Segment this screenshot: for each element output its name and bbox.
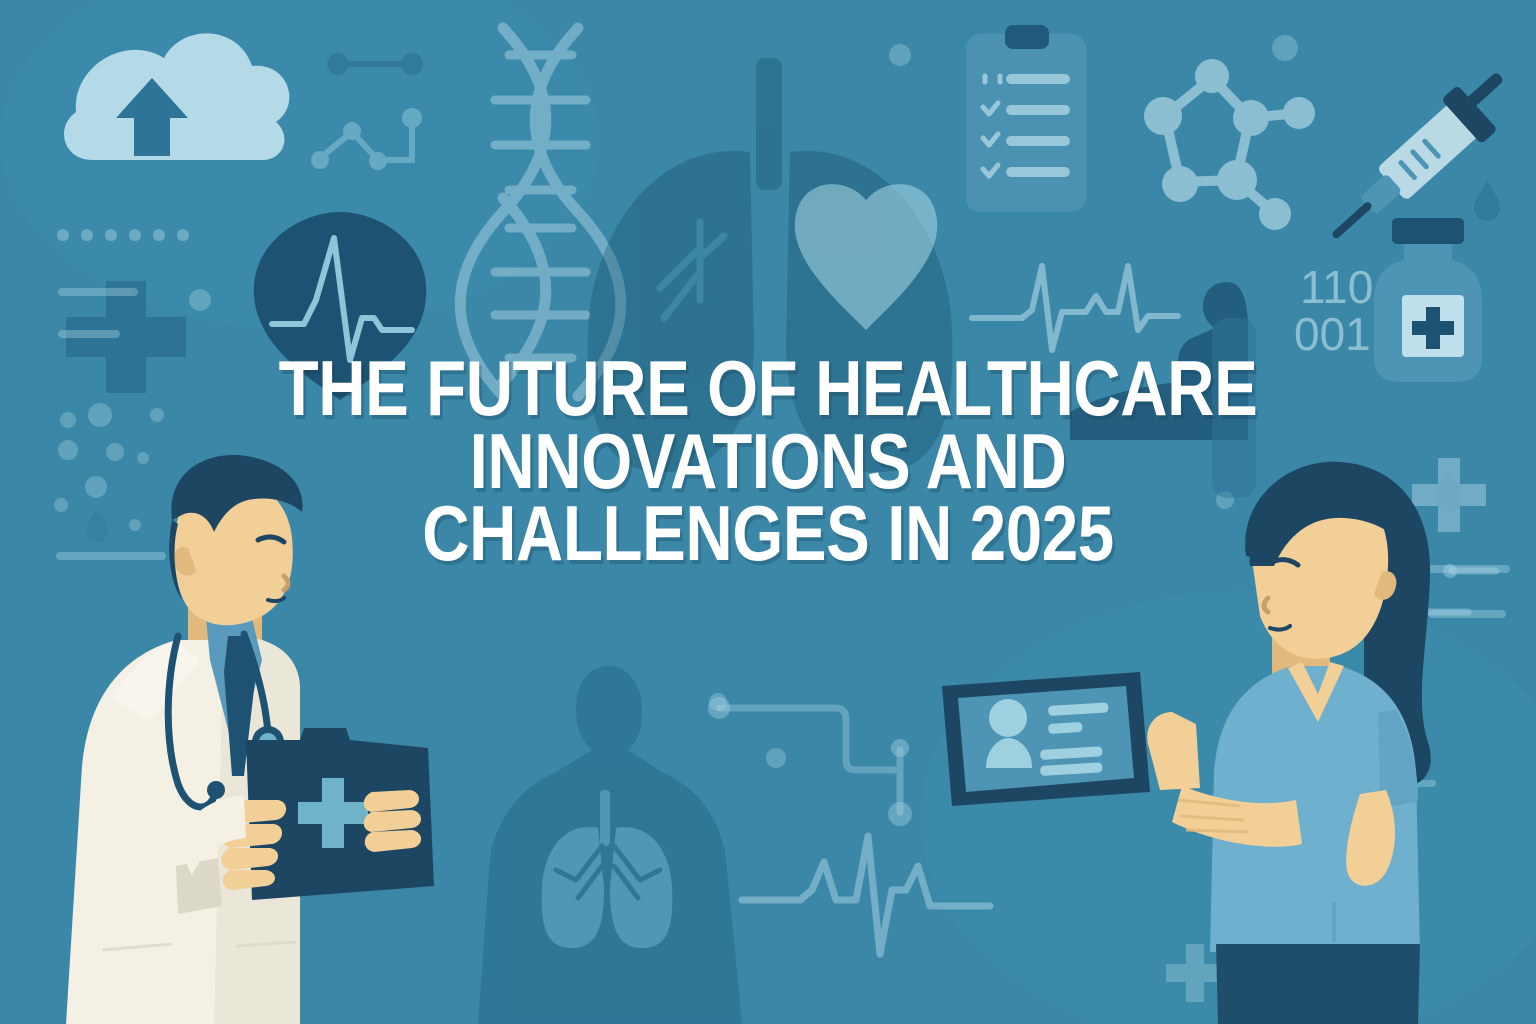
doctor-right-hand	[364, 790, 421, 852]
doctor-figure	[66, 455, 434, 1024]
tablet-device	[942, 672, 1150, 806]
foreground-figures	[0, 0, 1536, 1024]
nurse-figure	[1147, 462, 1431, 1024]
healthcare-poster: 110 001	[0, 0, 1536, 1024]
